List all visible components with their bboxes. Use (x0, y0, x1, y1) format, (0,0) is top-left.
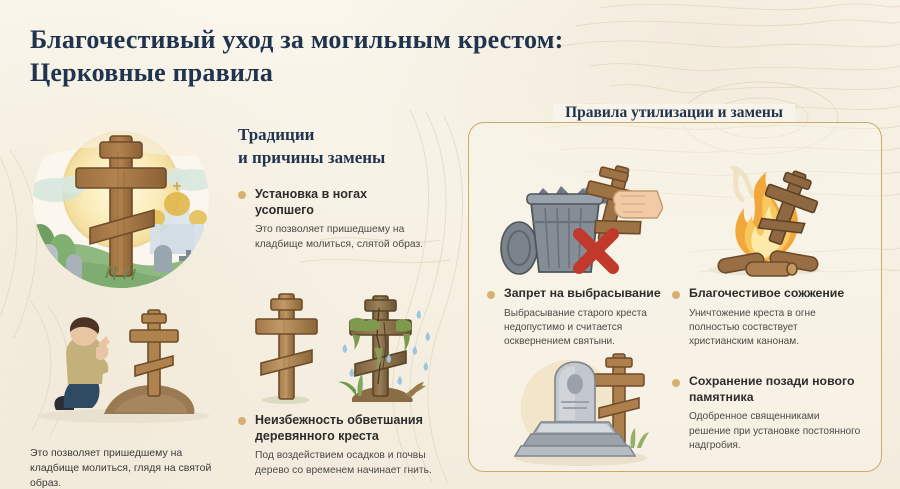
middle-heading-line-2: и причины замены (238, 148, 385, 167)
right-bullet-2: Благочестивое сожжение Уничтожение крест… (672, 286, 864, 350)
right-bullet-3-desc: Одобренное священниками решение при уста… (689, 410, 864, 453)
infographic-canvas: Благочестивый уход за могильным крестом:… (0, 0, 900, 489)
right-panel-title: Правила утилизации и замены (468, 104, 880, 122)
middle-bullet-1-title: Установка в ногах усопшего (255, 186, 428, 218)
right-bullet-3-title: Сохранение позади нового памятника (689, 374, 864, 405)
bullet-dot-icon (487, 291, 495, 299)
headstone-with-cross-icon (497, 352, 665, 470)
kneeling-man-praying-at-grave-icon (22, 292, 227, 440)
title-line-1: Благочестивый уход за могильным крестом: (30, 25, 564, 54)
title-line-2: Церковные правила (30, 58, 273, 87)
middle-bullet-1-desc: Это позволяет пришедшему на кладбище мол… (255, 223, 428, 252)
right-bullet-3: Сохранение позади нового памятника Одобр… (672, 374, 864, 453)
middle-bullet-1: Установка в ногах усопшего Это позволяет… (238, 186, 428, 252)
middle-bullet-2: Неизбежность обветшания деревянного крес… (238, 412, 448, 478)
bullet-dot-icon (672, 291, 680, 299)
middle-bullet-2-desc: Под воздействием осадков и почвы дерево … (255, 449, 448, 478)
orthodox-cross-church-sunrise-icon (14, 112, 229, 292)
right-bullet-2-title: Благочестивое сожжение (689, 286, 864, 302)
bullet-dot-icon (672, 379, 680, 387)
bullet-dot-icon (238, 191, 246, 199)
new-vs-rotting-cross-icon (248, 288, 438, 406)
right-bullet-1: Запрет на выбрасывание Выбрасывание стар… (487, 286, 663, 350)
right-panel-title-text: Правила утилизации и замены (553, 104, 795, 122)
bullet-dot-icon (238, 417, 246, 425)
middle-bullet-2-title: Неизбежность обветшания деревянного крес… (255, 412, 448, 444)
middle-heading: Традициии причины замены (238, 124, 385, 170)
trash-can-prohibition-icon (487, 160, 663, 278)
right-bullet-2-desc: Уничтожение креста в огне полностью сост… (689, 307, 864, 350)
page-title: Благочестивый уход за могильным крестом:… (30, 24, 564, 90)
left-caption: Это позволяет пришедшему на кладбище мол… (30, 446, 230, 489)
right-bullet-1-desc: Выбрасывание старого креста недопустимо … (504, 307, 663, 350)
bonfire-burning-cross-icon (684, 166, 856, 278)
right-bullet-1-title: Запрет на выбрасывание (504, 286, 663, 302)
middle-heading-line-1: Традиции (238, 125, 314, 144)
